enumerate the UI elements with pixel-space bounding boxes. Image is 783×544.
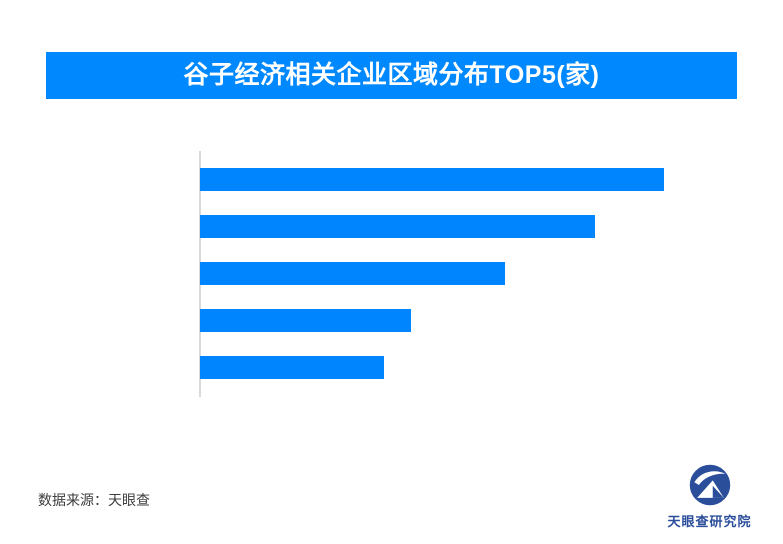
bar-value-rect (200, 215, 595, 238)
bar-value-rect (200, 356, 384, 379)
brand-wordmark: 天眼查研究院 (667, 511, 751, 530)
bar-value-rect (200, 168, 664, 191)
infographic-canvas: 谷子经济相关企业区域分布TOP5(家) 海南省湖北省广东省浙江省河南省 数据来源… (0, 0, 783, 544)
bar-value-rect (200, 309, 411, 332)
bar-value-rect (200, 262, 505, 285)
brand-logo: 天眼查研究院 (652, 462, 767, 534)
tianyancha-eye-logo-icon (687, 462, 733, 508)
data-source-note: 数据来源：天眼查 (38, 490, 150, 510)
